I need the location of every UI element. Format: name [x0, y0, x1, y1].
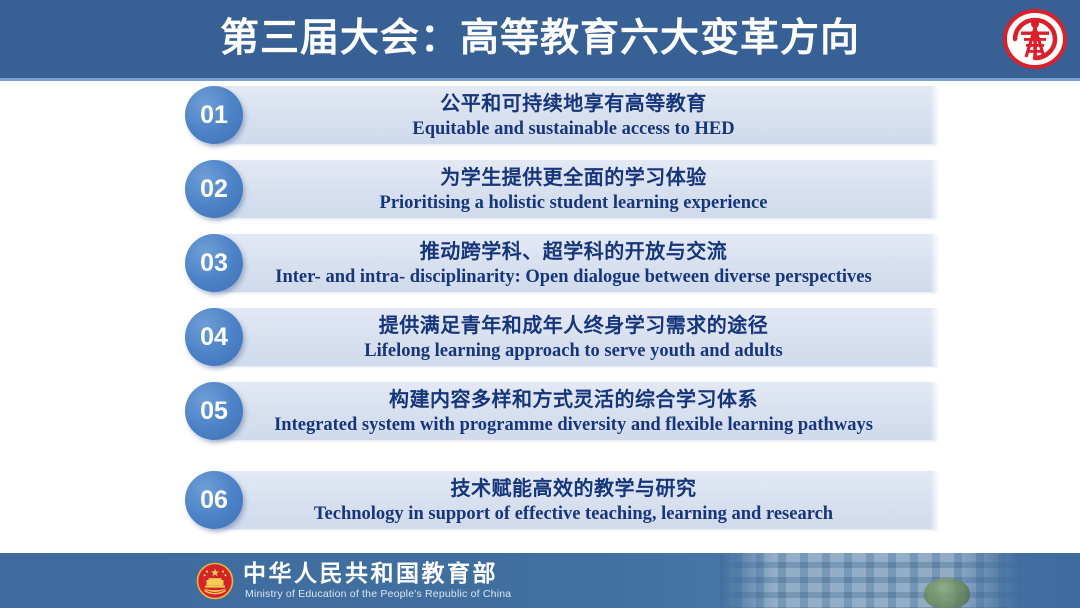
row-text-block: 推动跨学科、超学科的开放与交流 Inter- and intra- discip…: [210, 234, 937, 292]
university-emblem-logo: [1002, 6, 1068, 72]
page-title: 第三届大会：高等教育六大变革方向: [0, 12, 1080, 66]
ministry-name-cn: 中华人民共和国教育部: [243, 560, 498, 587]
list-item[interactable]: 为学生提供更全面的学习体验 Prioritising a holistic st…: [185, 160, 937, 218]
row-title-cn: 技术赋能高效的教学与研究: [451, 475, 697, 502]
ministry-name-en: Ministry of Education of the People's Re…: [245, 588, 511, 601]
header-divider: [0, 78, 1080, 81]
slide-canvas: 第三届大会：高等教育六大变革方向 公平和可持续地享有高等教育 Equita: [0, 0, 1080, 608]
row-title-cn: 构建内容多样和方式灵活的综合学习体系: [389, 386, 758, 413]
list-item[interactable]: 提供满足青年和成年人终身学习需求的途径 Lifelong learning ap…: [185, 308, 937, 366]
row-title-cn: 公平和可持续地享有高等教育: [440, 90, 707, 117]
row-text-block: 为学生提供更全面的学习体验 Prioritising a holistic st…: [210, 160, 937, 218]
row-number-badge: 03: [185, 234, 243, 292]
row-text-block: 构建内容多样和方式灵活的综合学习体系 Integrated system wit…: [210, 382, 937, 440]
row-title-en: Prioritising a holistic student learning…: [380, 191, 768, 215]
slide-header: 第三届大会：高等教育六大变革方向: [0, 0, 1080, 78]
row-text-block: 提供满足青年和成年人终身学习需求的途径 Lifelong learning ap…: [210, 308, 937, 366]
row-number-badge: 04: [185, 308, 243, 366]
row-text-block: 公平和可持续地享有高等教育 Equitable and sustainable …: [210, 86, 937, 144]
row-text-block: 技术赋能高效的教学与研究 Technology in support of ef…: [210, 471, 937, 529]
ministry-building-photo: [720, 553, 1020, 608]
slide-footer: 中华人民共和国教育部 Ministry of Education of the …: [0, 553, 1080, 608]
list-item[interactable]: 构建内容多样和方式灵活的综合学习体系 Integrated system wit…: [185, 382, 937, 440]
row-title-en: Integrated system with programme diversi…: [274, 413, 873, 437]
row-title-cn: 提供满足青年和成年人终身学习需求的途径: [379, 312, 769, 339]
row-number-badge: 06: [185, 471, 243, 529]
list-item[interactable]: 公平和可持续地享有高等教育 Equitable and sustainable …: [185, 86, 937, 144]
row-title-cn: 推动跨学科、超学科的开放与交流: [420, 238, 728, 265]
row-title-en: Lifelong learning approach to serve yout…: [364, 339, 783, 363]
tree-decoration: [924, 578, 970, 608]
row-title-en: Inter- and intra- disciplinarity: Open d…: [275, 265, 871, 289]
row-number-badge: 02: [185, 160, 243, 218]
list-item[interactable]: 技术赋能高效的教学与研究 Technology in support of ef…: [185, 471, 937, 529]
row-number-badge: 01: [185, 86, 243, 144]
row-title-cn: 为学生提供更全面的学习体验: [440, 164, 707, 191]
directions-list: 公平和可持续地享有高等教育 Equitable and sustainable …: [0, 86, 1080, 546]
row-number-badge: 05: [185, 382, 243, 440]
list-item[interactable]: 推动跨学科、超学科的开放与交流 Inter- and intra- discip…: [185, 234, 937, 292]
china-national-emblem: [196, 562, 234, 600]
row-title-en: Technology in support of effective teach…: [314, 502, 833, 526]
row-title-en: Equitable and sustainable access to HED: [412, 117, 734, 141]
